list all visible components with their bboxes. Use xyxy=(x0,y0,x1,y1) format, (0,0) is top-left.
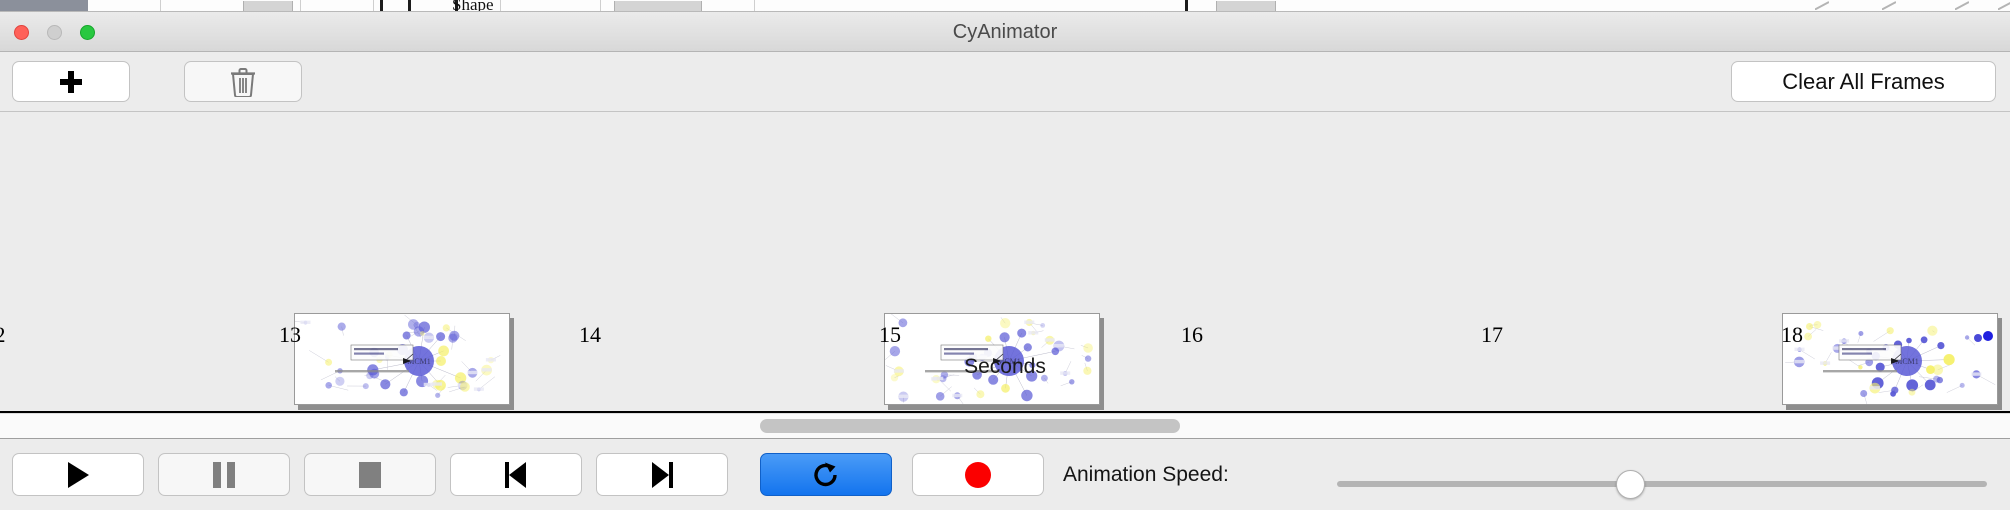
title-bar: CyAnimator xyxy=(0,12,2010,52)
play-button[interactable] xyxy=(12,453,144,496)
animation-speed-slider[interactable] xyxy=(1337,481,1987,487)
skip-next-icon xyxy=(649,462,675,488)
skip-previous-icon xyxy=(503,462,529,488)
stop-button[interactable] xyxy=(304,453,436,496)
next-frame-button[interactable] xyxy=(596,453,728,496)
loop-button[interactable] xyxy=(760,453,892,496)
timeline-scrollbar[interactable] xyxy=(0,413,2010,439)
plus-icon xyxy=(59,70,83,94)
transport-bar: Animation Speed: xyxy=(0,440,2010,510)
play-icon xyxy=(68,462,89,488)
trash-icon xyxy=(230,67,256,97)
axis-tick-label: 16 xyxy=(1181,322,1203,348)
loop-icon xyxy=(811,460,841,490)
window-title: CyAnimator xyxy=(0,12,2010,52)
animation-speed-label: Animation Speed: xyxy=(1063,463,1229,487)
record-icon xyxy=(965,462,991,488)
axis-tick-label: 17 xyxy=(1481,322,1503,348)
add-frame-button[interactable] xyxy=(12,61,130,102)
axis-tick-label: 18 xyxy=(1781,322,1803,348)
toolbar: Clear All Frames xyxy=(0,52,2010,112)
axis-tick-label: 2 xyxy=(0,322,6,348)
animation-speed-slider-thumb[interactable] xyxy=(1616,470,1645,499)
background-window-titlebar xyxy=(0,0,88,11)
axis-tick-label: 13 xyxy=(279,322,301,348)
record-button[interactable] xyxy=(912,453,1044,496)
stop-icon xyxy=(359,462,381,488)
cyanimator-window: Shape CyAnimator Clear All Frames MC xyxy=(0,0,2010,510)
axis-tick-label: 14 xyxy=(579,322,601,348)
pause-button[interactable] xyxy=(158,453,290,496)
pause-icon xyxy=(213,462,235,488)
background-window-label: Shape xyxy=(452,0,494,12)
timeline-scrollbar-thumb[interactable] xyxy=(760,419,1180,433)
axis-title: Seconds xyxy=(0,355,2010,379)
background-window-strip: Shape xyxy=(0,0,2010,12)
clear-all-frames-button[interactable]: Clear All Frames xyxy=(1731,61,1996,102)
axis-tick-label: 15 xyxy=(879,322,901,348)
delete-frame-button[interactable] xyxy=(184,61,302,102)
previous-frame-button[interactable] xyxy=(450,453,582,496)
